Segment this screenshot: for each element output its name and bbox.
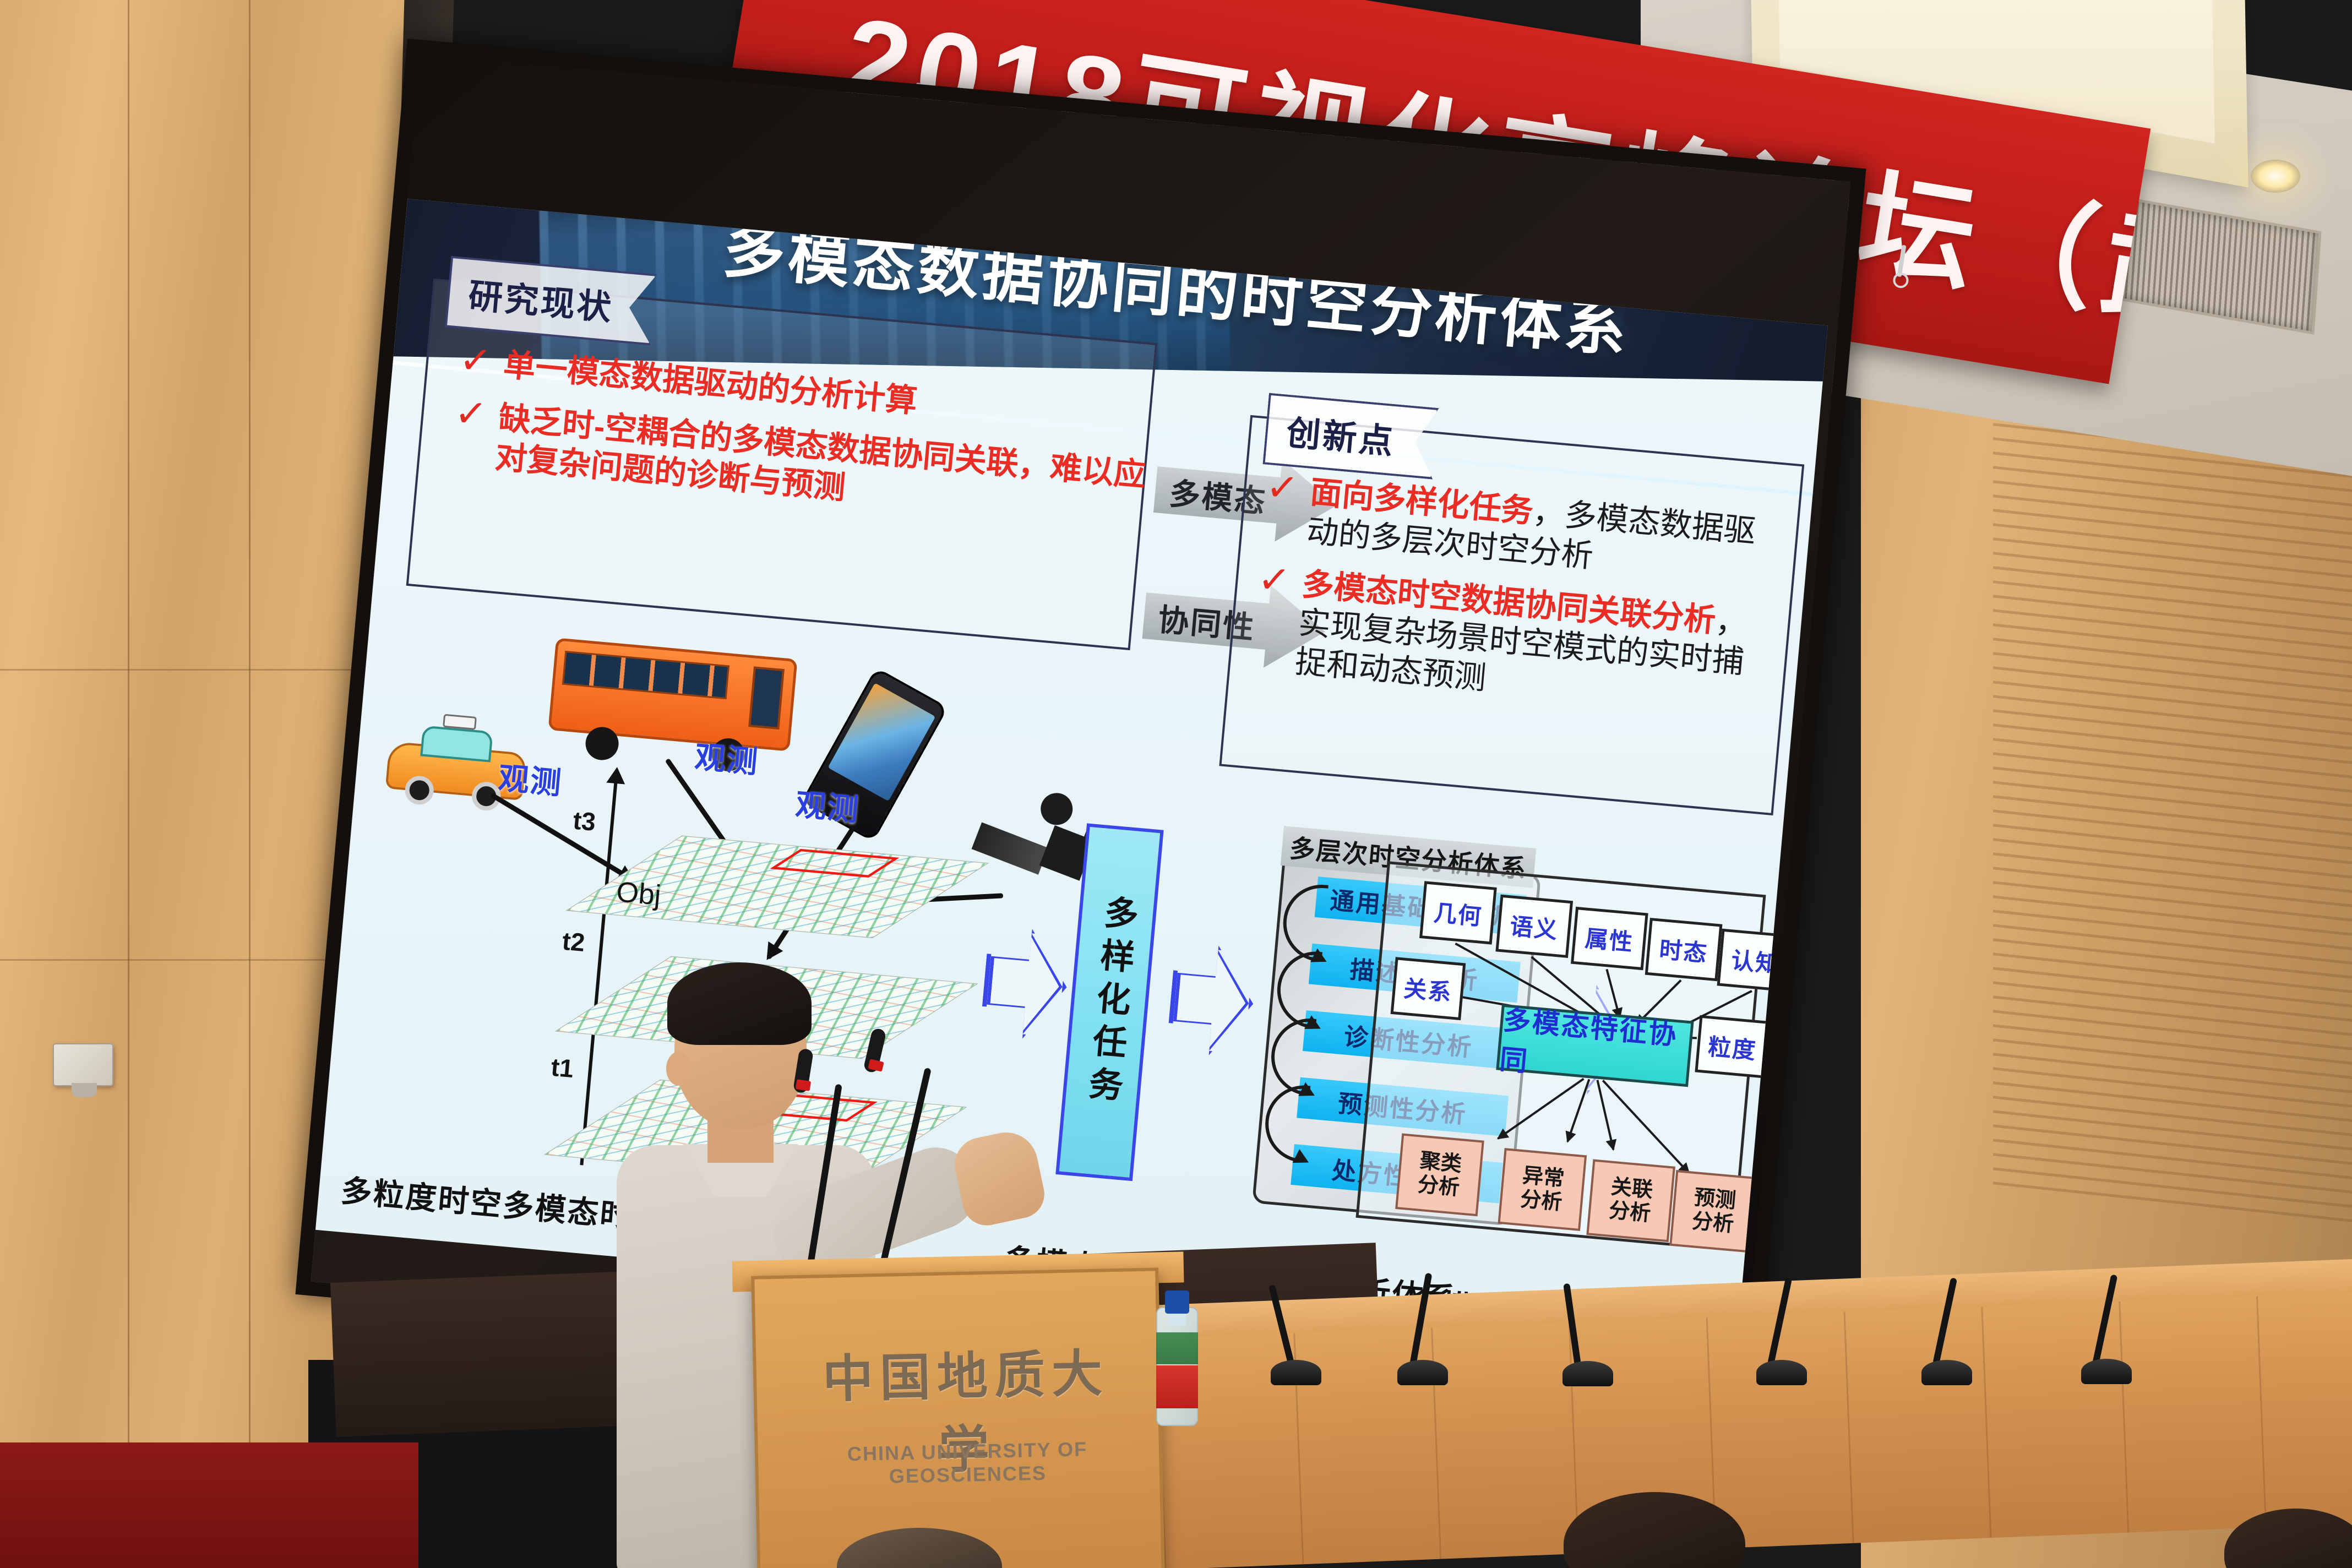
feature-node-granularity: 粒度 — [1695, 1015, 1770, 1079]
table-microphone-base — [1271, 1360, 1321, 1385]
table-microphone-base — [1921, 1360, 1972, 1385]
analysis-node-anomaly: 异常 分析 — [1498, 1148, 1587, 1231]
innovation-tag-label: 创新点 — [1285, 414, 1397, 461]
flow-curve-arrow — [1280, 881, 1329, 962]
wall-mounted-device — [53, 1043, 113, 1086]
check-icon: ✓ — [458, 342, 493, 379]
feature-node-attribute: 属性 — [1571, 907, 1648, 970]
podium-university-en: CHINA UNIVERSITY OF GEOSCIENCES — [797, 1436, 1139, 1490]
time-tick-t1: t1 — [550, 1052, 575, 1084]
object-label: Obj — [615, 875, 662, 912]
flow-curve-arrow — [1274, 949, 1322, 1029]
projection-screen: 多模态数据协同的时空分析体系 研究现状 ✓ 单一模态数据驱动的分析计算 ✓ 缺乏… — [295, 39, 1866, 1424]
feature-node-relation: 关系 — [1391, 957, 1466, 1020]
blue-arrow-1 — [979, 925, 1071, 1042]
blue-arrow-2 — [1166, 942, 1258, 1059]
water-bottle — [1156, 1283, 1198, 1426]
ceiling-downlight-icon — [2251, 160, 2300, 193]
task-box-label: 多样化任务 — [1075, 893, 1144, 1111]
center-node: 多模态特征协同 — [1496, 1004, 1694, 1087]
time-tick-t2: t2 — [561, 926, 586, 957]
observation-label: 观测 — [693, 732, 761, 782]
table-microphone-base — [1397, 1360, 1448, 1385]
flow-curve-arrow — [1262, 1082, 1310, 1163]
check-icon: ✓ — [453, 395, 488, 432]
flow-curve-arrow — [1268, 1015, 1316, 1096]
analysis-node-prediction: 预测 分析 — [1669, 1170, 1758, 1253]
speaker-hair — [667, 962, 812, 1045]
table-microphone-base — [2081, 1359, 2132, 1384]
feature-node-semantic: 语义 — [1495, 895, 1573, 958]
slide-diagram: 观测 观测 观测 观测 t3 t2 t1 Obj — [315, 616, 1790, 1357]
speaker-ear — [666, 1052, 692, 1086]
observation-label: 观测 — [794, 780, 862, 830]
bus-icon — [547, 638, 798, 769]
check-icon: ✓ — [1265, 469, 1300, 507]
time-tick-t3: t3 — [572, 805, 597, 836]
lecture-hall-photo: 2018可视化高峰论坛（武汉） 多模态数据协同的时空分析体系 研究现状 ✓ 单一… — [0, 0, 2352, 1568]
innovation-bullet-list: ✓ 面向多样化任务，多模态数据驱动的多层次时空分析 ✓ 多模态时空数据协同关联分… — [1248, 469, 1789, 738]
feature-node-geometry: 几何 — [1419, 881, 1497, 944]
analysis-node-association: 关联 分析 — [1586, 1159, 1675, 1242]
analysis-node-clustering: 聚类 分析 — [1395, 1133, 1484, 1216]
presentation-slide: 多模态数据协同的时空分析体系 研究现状 ✓ 单一模态数据驱动的分析计算 ✓ 缺乏… — [315, 199, 1828, 1357]
wall-slat-texture — [1993, 366, 2352, 1231]
podium-microphone-ring — [796, 1079, 811, 1091]
wall-seam — [128, 0, 129, 1568]
red-carpet — [0, 1442, 418, 1568]
table-microphone-base — [1562, 1361, 1613, 1386]
feature-node-temporal: 时态 — [1645, 918, 1723, 981]
wall-seam — [249, 0, 251, 1568]
check-icon: ✓ — [1256, 561, 1292, 598]
table-microphone-base — [1756, 1360, 1807, 1385]
observation-label: 观测 — [497, 753, 564, 803]
podium: 中国地质大学 CHINA UNIVERSITY OF GEOSCIENCES — [751, 1267, 1165, 1568]
